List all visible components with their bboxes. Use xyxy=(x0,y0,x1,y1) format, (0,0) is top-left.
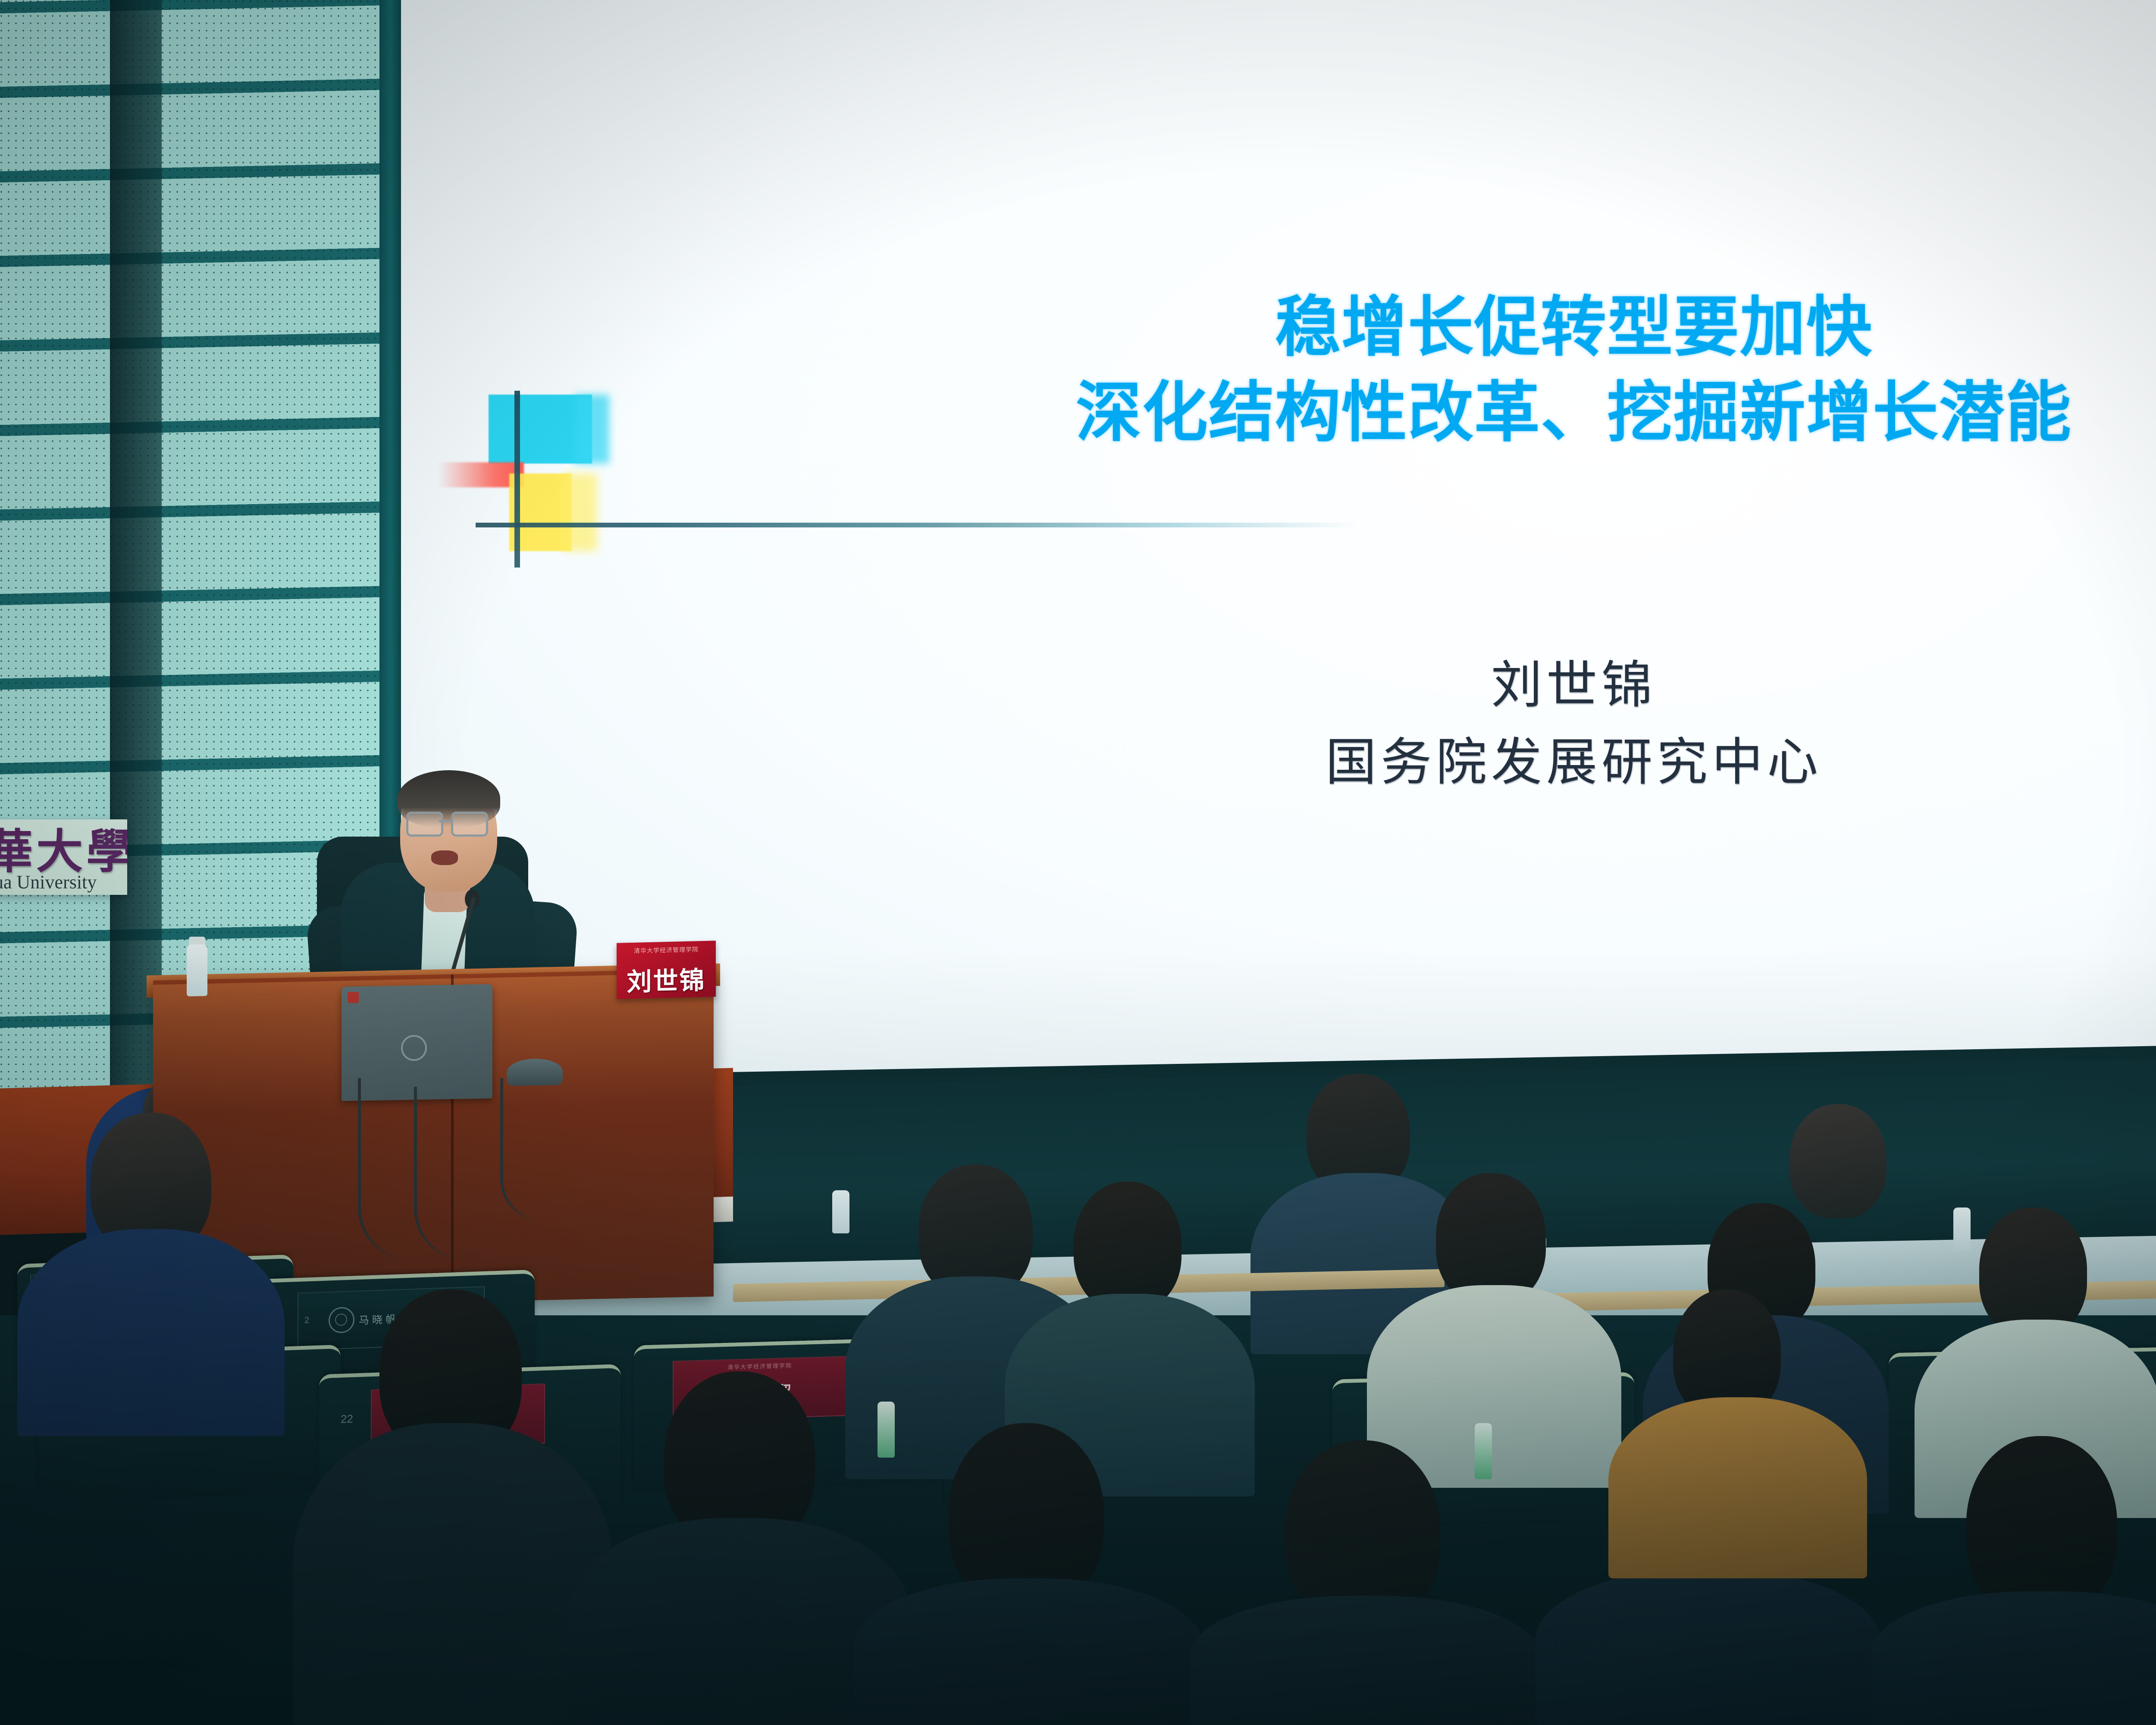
university-sign-english: hua University xyxy=(0,871,97,893)
audience-head xyxy=(1074,1182,1181,1311)
podium-cable-1 xyxy=(358,1078,417,1259)
audience-torso xyxy=(854,1578,1203,1725)
slide-decoration-mark xyxy=(455,362,679,526)
speaker-nameplate: 清华大学经济管理学院 刘世锦 xyxy=(617,941,716,999)
speaker-nameplate-header: 清华大学经济管理学院 xyxy=(617,944,716,956)
audience-torso xyxy=(293,1423,612,1725)
audience-water-bottle xyxy=(877,1402,895,1458)
lecture-hall-photo: 華大學 hua University 稳增长促转型要加快 深化结构性改革、挖掘新… xyxy=(0,0,2156,1725)
speaker-nameplate-name: 刘世锦 xyxy=(617,960,716,998)
projection-screen xyxy=(401,0,2156,1091)
university-sign: 華大學 hua University xyxy=(0,819,127,895)
audience-torso xyxy=(1535,1570,1880,1725)
screen-glow xyxy=(401,0,2156,1091)
slide-title-line-1: 稳增长促转型要加快 xyxy=(690,285,2156,370)
audience-water-bottle xyxy=(1475,1423,1492,1479)
speaker-eyeglass-right xyxy=(451,812,488,837)
podium-cable-3 xyxy=(500,1078,542,1220)
audience-torso-orange-jacket xyxy=(1608,1397,1867,1578)
speaker-mouth xyxy=(431,850,458,865)
slide-title: 稳增长促转型要加快 深化结构性改革、挖掘新增长潜能 xyxy=(690,285,2156,455)
deco-yellow-blur xyxy=(563,474,597,551)
deco-cyan-blur xyxy=(575,395,609,464)
audience-water-bottle xyxy=(832,1190,849,1233)
audience-torso xyxy=(17,1229,285,1436)
seat-number: 22 xyxy=(341,1412,353,1426)
podium-water-bottle xyxy=(187,944,207,997)
wall-shadow-band xyxy=(110,0,162,1104)
laptop-sticker xyxy=(348,992,359,1003)
reserved-placard-header: 清华大学经济管理学院 xyxy=(674,1359,846,1372)
presenter-affiliation: 国务院发展研究中心 xyxy=(690,724,2156,801)
audience-water-bottle xyxy=(1953,1207,1971,1251)
presenter-name: 刘世锦 xyxy=(690,647,2156,724)
audience-torso xyxy=(1190,1596,1539,1725)
laptop-brand-logo xyxy=(401,1035,427,1061)
speaker-eyeglass-bridge xyxy=(439,820,451,822)
deco-horizontal-line xyxy=(476,523,1360,527)
speaker-eyeglass-left xyxy=(406,812,443,837)
audience-torso xyxy=(1871,1591,2156,1725)
slide-presenter-block: 刘世锦 国务院发展研究中心 xyxy=(690,647,2156,802)
podium-cable-2 xyxy=(414,1087,464,1259)
deco-vertical-line xyxy=(514,391,520,568)
slide-title-line-2: 深化结构性改革、挖掘新增长潜能 xyxy=(690,370,2156,455)
audience-head xyxy=(1979,1207,2087,1337)
audience-head xyxy=(1966,1436,2117,1617)
